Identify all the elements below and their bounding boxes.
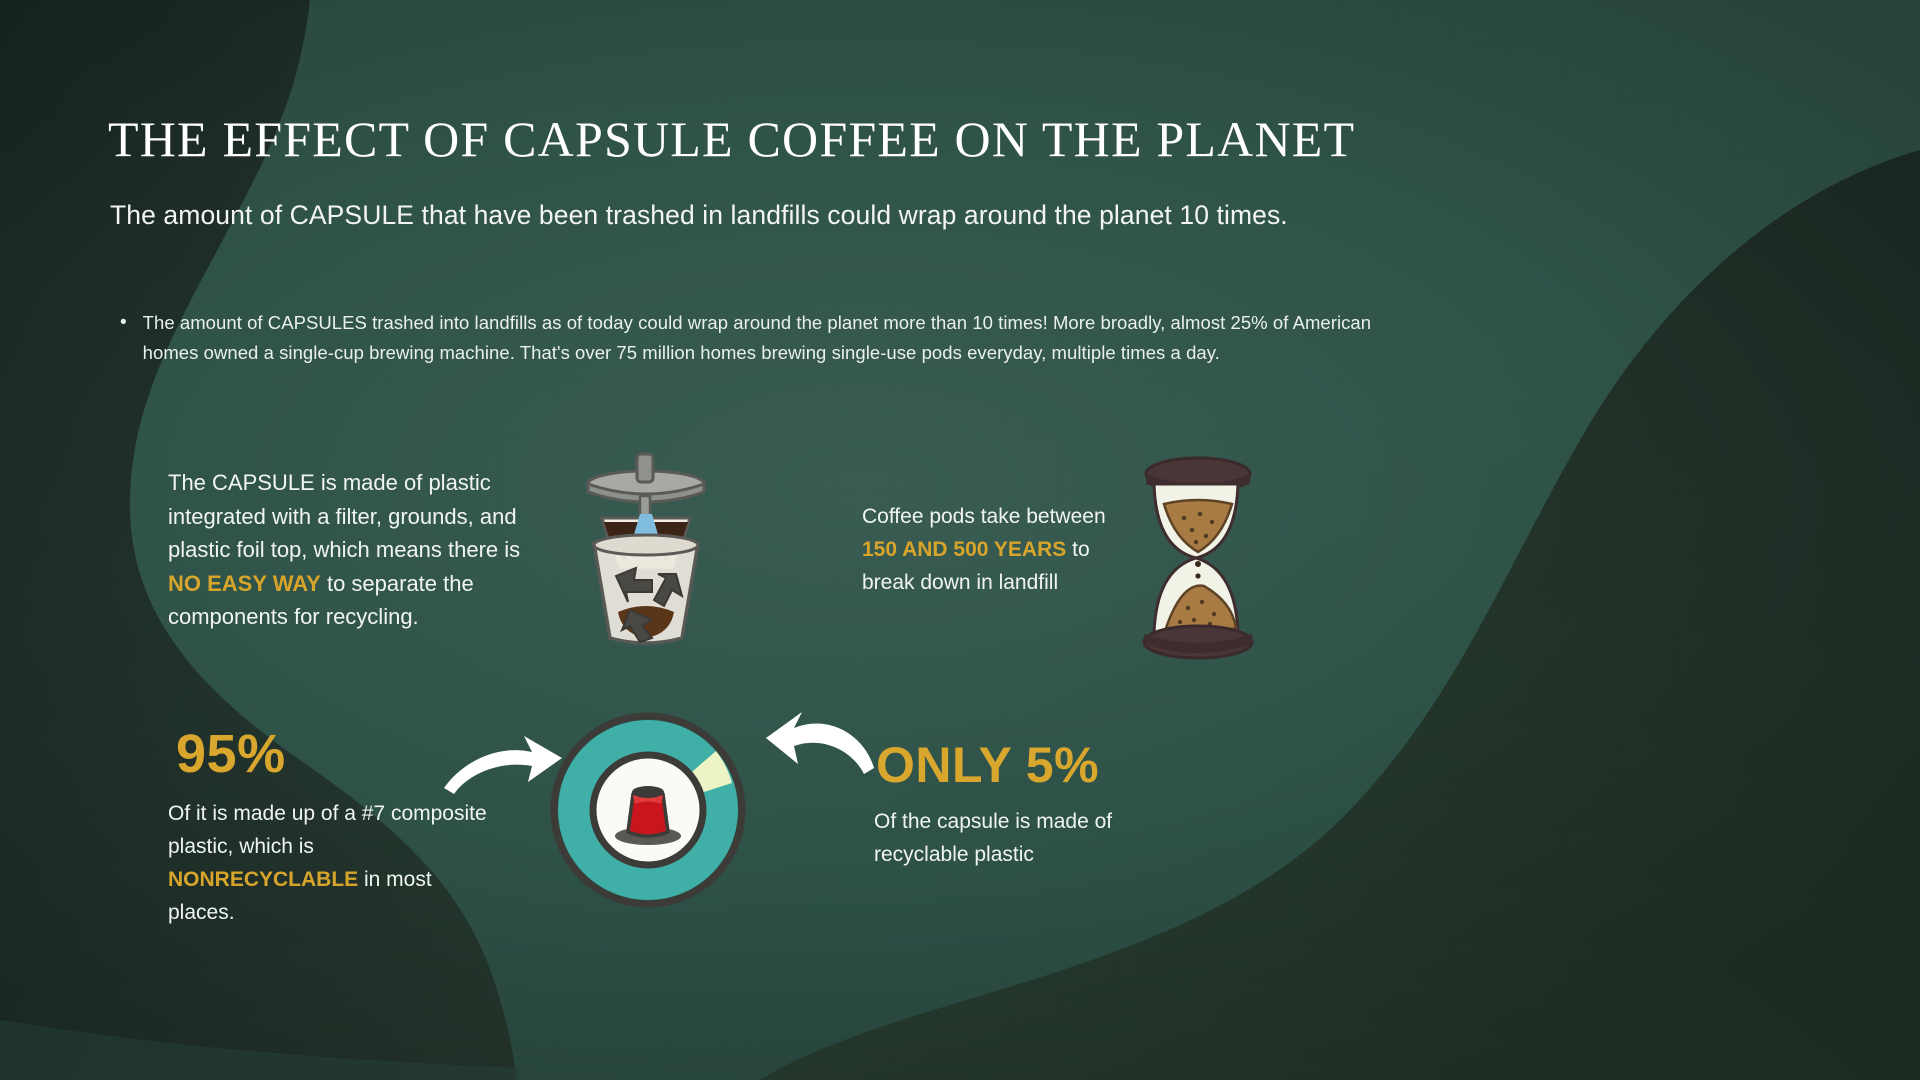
bullet-list: • The amount of CAPSULES trashed into la…	[120, 308, 1410, 368]
capsule-description-block: The CAPSULE is made of plastic integrate…	[168, 466, 548, 634]
slide-canvas: THE EFFECT OF CAPSULE COFFEE ON THE PLAN…	[0, 0, 1920, 1080]
stat-95-desc-highlight: NONRECYCLABLE	[168, 868, 358, 891]
page-subtitle: The amount of CAPSULE that have been tra…	[110, 200, 1288, 231]
pods-highlight: 150 AND 500 YEARS	[862, 538, 1066, 561]
bullet-marker-icon: •	[120, 308, 127, 368]
hourglass-icon	[1128, 452, 1268, 667]
curved-arrow-left-icon	[752, 708, 880, 799]
stat-95-description: Of it is made up of a #7 composite plast…	[168, 797, 498, 929]
page-title: THE EFFECT OF CAPSULE COFFEE ON THE PLAN…	[108, 110, 1355, 168]
bullet-text: The amount of CAPSULES trashed into land…	[143, 308, 1410, 368]
stat-95-number: 95%	[176, 723, 286, 785]
coffee-capsule-cup-icon	[578, 448, 714, 653]
pods-description-block: Coffee pods take between 150 AND 500 YEA…	[862, 500, 1122, 599]
stat-5-description: Of the capsule is made of recyclable pla…	[874, 805, 1194, 871]
capsule-highlight: NO EASY WAY	[168, 571, 321, 596]
pods-text-part1: Coffee pods take between	[862, 505, 1106, 528]
stat-5-number: ONLY 5%	[876, 736, 1099, 794]
donut-chart-icon	[548, 710, 748, 915]
capsule-text-part1: The CAPSULE is made of plastic integrate…	[168, 470, 520, 562]
stat-95-desc-part1: Of it is made up of a #7 composite plast…	[168, 802, 487, 858]
